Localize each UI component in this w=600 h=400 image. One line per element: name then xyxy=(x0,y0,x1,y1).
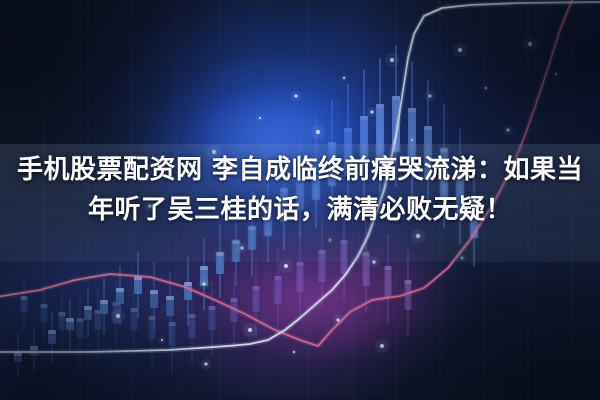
headline-line-1: 手机股票配资网 李自成临终前痛哭流涕：如果当 xyxy=(14,150,586,190)
banner-image: 手机股票配资网 李自成临终前痛哭流涕：如果当 年听了吴三桂的话，满清必败无疑！ xyxy=(0,0,600,400)
headline-text: 手机股票配资网 李自成临终前痛哭流涕：如果当 年听了吴三桂的话，满清必败无疑！ xyxy=(0,150,600,230)
headline-line-2: 年听了吴三桂的话，满清必败无疑！ xyxy=(14,190,586,230)
